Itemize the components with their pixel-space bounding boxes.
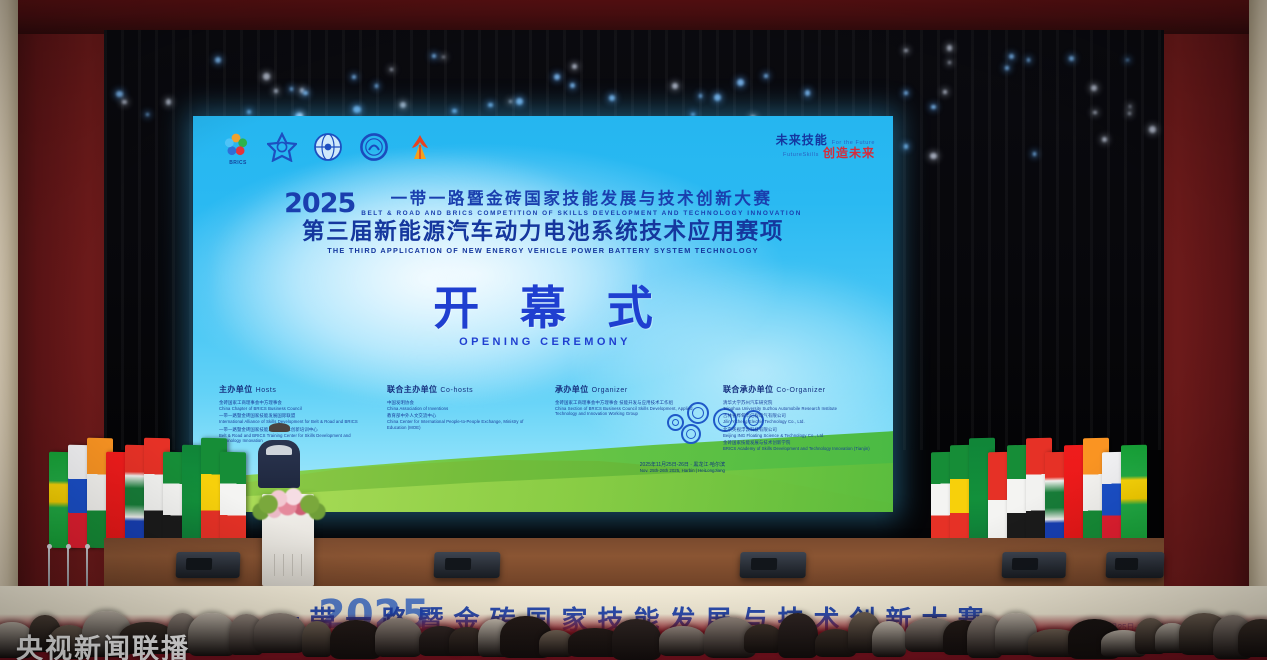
credit-role-en: Hosts — [256, 387, 277, 394]
flower-arrangement — [252, 482, 326, 528]
credit-item: 中国发明协会China Association of Inventions — [387, 400, 537, 412]
credit-item: 金砖国家工商理事会中方理事会China Chapter of BRICS Bus… — [219, 400, 369, 412]
audience-head — [375, 618, 422, 657]
credit-role-en: Organizer — [592, 387, 628, 394]
flagpole-finial — [85, 544, 90, 549]
title-en-line1: BELT & ROAD AND BRICS COMPETITION OF SKI… — [361, 210, 802, 217]
title-year: 2025 — [284, 190, 355, 217]
credit-item-en: Tsinghua University Suzhou Automobile Re… — [723, 406, 873, 412]
audience-head — [744, 624, 782, 654]
credit-role-cn: 联合主办单位 — [387, 385, 437, 394]
ceremony-heading: 开 幕 式 OPENING CEREMONY — [193, 284, 893, 348]
audience-head — [872, 621, 907, 656]
slogan-cn-line1: 未来技能 — [776, 134, 828, 147]
stage-monitor-5 — [1106, 552, 1165, 578]
flagpole-finial — [47, 544, 52, 549]
credits-row: 主办单位Hosts金砖国家工商理事会中方理事会China Chapter of … — [219, 379, 873, 454]
credit-item-en: Jilin Yicheng Electric Technology Co., L… — [723, 419, 873, 425]
speaker-hair — [269, 423, 290, 432]
credit-role-heading: 主办单位Hosts — [219, 379, 369, 397]
stage-monitor-1 — [176, 552, 241, 578]
credit-role-cn: 主办单位 — [219, 385, 253, 394]
credit-role-en: Co-hosts — [440, 387, 473, 394]
broadcast-watermark: 央视新闻联播 — [16, 627, 190, 660]
credit-item: 教育部中外人文交流中心China Center for Internationa… — [387, 413, 537, 430]
event-title-block: 2025 一带一路暨金砖国家技能发展与技术创新大赛 BELT & ROAD AN… — [193, 190, 893, 255]
credit-item-en: BRICS Academy of Skills Development and … — [723, 446, 873, 452]
title-cn-line1: 一带一路暨金砖国家技能发展与技术创新大赛 — [361, 190, 802, 208]
stage-monitor-2 — [434, 552, 501, 578]
event-date-line: 2025年11月25日-26日 · 黑龙江·哈尔滨 Nov. 25th-26th… — [640, 462, 725, 474]
brics-logo-caption: BRICS — [221, 160, 255, 166]
credit-item: 一带一路暨金砖国家技能发展与技术创新培训中心Belt & Road and BR… — [219, 427, 369, 444]
red-figure-emblem-logo — [405, 132, 435, 162]
globe-emblem-logo — [313, 132, 343, 162]
audience-head — [330, 620, 382, 659]
credit-item: 北京英视浮云科技有限公司Beijing ING Floating Science… — [723, 427, 873, 439]
credit-item-en: China Chapter of BRICS Business Council — [219, 406, 369, 412]
credit-item-en: China Section of BRICS Business Council … — [555, 406, 705, 417]
credit-column: 联合承办单位Co-Organizer清华大学苏州汽车研究院Tsinghua Un… — [723, 379, 873, 454]
audience-head — [612, 619, 660, 660]
brics-logo: BRICS — [221, 132, 251, 162]
blue-circle-emblem-logo — [359, 132, 389, 162]
event-date-en: Nov. 25th-26th 2025, Harbin | HeiLongJia… — [640, 468, 725, 474]
audience-head — [1238, 619, 1267, 657]
flag-cloth — [220, 452, 246, 548]
credit-role-heading: 联合主办单位Co-hosts — [387, 379, 537, 397]
slogan-cn-line2: 创造未来 — [823, 147, 875, 160]
future-skills-slogan: 未来技能 For the Future FutureSkills 创造未来 — [776, 134, 875, 159]
credit-item: 吉林省桦甸市亿程电气有限公司Jilin Yicheng Electric Tec… — [723, 413, 873, 425]
credit-item-en: China Center for International People-to… — [387, 419, 537, 430]
credit-role-cn: 联合承办单位 — [723, 385, 773, 394]
stage-monitor-3 — [740, 552, 807, 578]
credit-role-heading: 联合承办单位Co-Organizer — [723, 379, 873, 397]
star-emblem-logo — [267, 132, 297, 162]
audience-head — [254, 613, 306, 653]
credit-item: 金砖国家工商理事会中方理事会 技能开发与应用技术工作组China Section… — [555, 400, 705, 417]
speaker-collar — [266, 445, 292, 455]
ceremony-cn: 开 幕 式 — [193, 284, 893, 332]
credit-item: 一带一路暨金砖国家技能发展国际联盟International Alliance … — [219, 413, 369, 425]
hall-wall-top-trim — [0, 0, 1267, 34]
credit-item: 金砖国家技能发展与技术创新学院BRICS Academy of Skills D… — [723, 440, 873, 452]
podium-panel-lines — [274, 554, 302, 576]
credit-item-en: Beijing ING Floating Science & Technolog… — [723, 433, 873, 439]
slogan-en-line2: FutureSkills — [783, 153, 819, 159]
credit-role-heading: 承办单位Organizer — [555, 379, 705, 397]
credit-item-en: International Alliance of Skills Develop… — [219, 419, 369, 425]
wall-strip-left — [0, 0, 18, 660]
audience-head — [659, 626, 706, 655]
logo-row: BRICS — [221, 132, 435, 162]
credit-item-en: China Association of Inventions — [387, 406, 537, 412]
flag-cloth — [1121, 445, 1147, 548]
ceremony-en: OPENING CEREMONY — [193, 336, 893, 348]
wall-strip-right — [1249, 0, 1267, 660]
audience-head — [778, 613, 818, 658]
credit-item: 清华大学苏州汽车研究院Tsinghua University Suzhou Au… — [723, 400, 873, 412]
flagpole-finial — [66, 544, 71, 549]
audience-head — [302, 621, 332, 657]
stage-photo: BRICS — [0, 0, 1267, 660]
stage-monitor-4 — [1002, 552, 1067, 578]
credit-role-cn: 承办单位 — [555, 385, 589, 394]
title-en-line2: THE THIRD APPLICATION OF NEW ENERGY VEHI… — [193, 246, 893, 255]
title-cn-line2: 第三届新能源汽车动力电池系统技术应用赛项 — [193, 220, 893, 245]
credit-role-en: Co-Organizer — [776, 387, 825, 394]
credit-column: 联合主办单位Co-hosts中国发明协会China Association of… — [387, 379, 537, 454]
credit-column: 承办单位Organizer金砖国家工商理事会中方理事会 技能开发与应用技术工作组… — [555, 379, 705, 454]
